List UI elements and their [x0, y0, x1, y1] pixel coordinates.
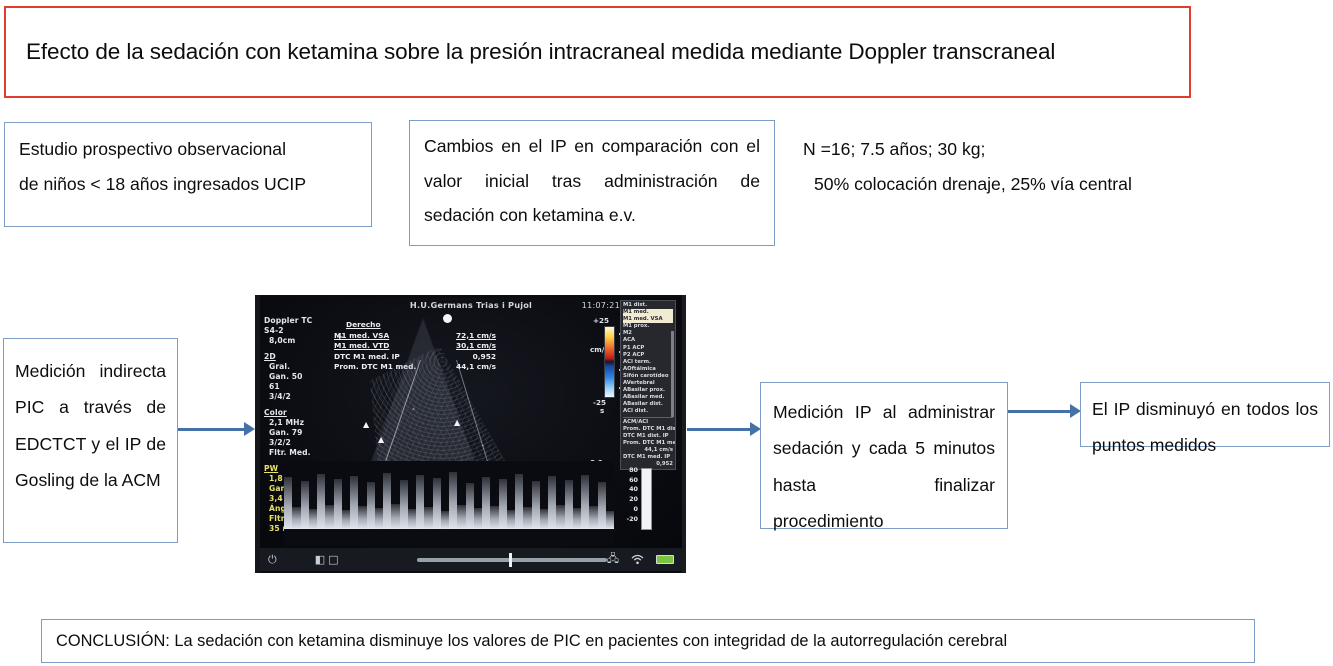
group-line: 3/2/2: [264, 438, 316, 448]
caliper-marker-icon: ▲: [378, 435, 384, 444]
sweep-scale-label: s: [600, 406, 604, 415]
slider-knob[interactable]: [509, 553, 512, 567]
protocol-box: Medición IP al administrar sedación y ca…: [760, 382, 1008, 529]
scale-tick: 60: [616, 476, 638, 486]
power-icon[interactable]: ⏻: [268, 553, 277, 567]
param-group-color: Color 2,1 MHz Gan. 79 3/2/2 Fltr. Med.: [264, 408, 316, 458]
demographics-line-1: N =16; 7.5 años; 30 kg;: [803, 132, 1223, 167]
caliper-marker-icon: ▲: [454, 418, 460, 427]
menu-result-row: DTC M1 med. IP: [623, 454, 673, 461]
page-title: Efecto de la sedación con ketamina sobre…: [4, 6, 1191, 98]
menu-item[interactable]: ABasilar prox.: [623, 387, 673, 394]
menu-result-row: DTC M1 dist. IP: [623, 433, 673, 440]
study-design-box: Estudio prospectivo observacional de niñ…: [4, 122, 372, 227]
menu-item[interactable]: AOftálmica: [623, 366, 673, 373]
menu-item[interactable]: ACA: [623, 337, 673, 344]
arrow-shaft: [178, 428, 244, 431]
arrow-shaft: [687, 428, 750, 431]
menu-item[interactable]: ACI term.: [623, 359, 673, 366]
menu-item[interactable]: ABasilar med.: [623, 394, 673, 401]
outcome-definition-text: Cambios en el IP en comparación con el v…: [410, 121, 774, 241]
group-line: 3/4/2: [264, 392, 316, 402]
network-icon[interactable]: 🖧: [607, 550, 619, 569]
menu-item-selected[interactable]: M1 med.: [623, 309, 673, 316]
mode-label: Doppler TC: [264, 316, 316, 326]
slide-canvas: Efecto de la sedación con ketamina sobre…: [0, 0, 1333, 666]
spectral-velocity-scale: 80 60 40 20 0 -20: [616, 466, 638, 524]
spectral-scale-bar: [641, 468, 652, 530]
spectral-doppler-trace: [284, 461, 614, 546]
outcome-definition-box: Cambios en el IP en comparación con el v…: [409, 120, 775, 246]
menu-result-row: Prom. DTC M1 dist.: [623, 426, 673, 433]
scale-tick: 40: [616, 485, 638, 495]
menu-item-highlighted[interactable]: M1 med. VSA: [623, 316, 673, 323]
menu-item[interactable]: AVertebral: [623, 380, 673, 387]
group-line: 61: [264, 382, 316, 392]
group-line: Gan. 50: [264, 372, 316, 382]
arrow-head: [244, 422, 255, 436]
orientation-marker-icon: [443, 314, 452, 323]
demographics-block: N =16; 7.5 años; 30 kg; 50% colocación d…: [803, 132, 1223, 228]
hospital-name: H.U.Germans Trias i Pujol: [410, 300, 532, 310]
colorbar-max-label: +25: [593, 316, 609, 325]
menu-item[interactable]: ACI dist.: [623, 408, 673, 415]
square-icon[interactable]: □: [328, 553, 338, 566]
ultrasound-screenshot: H.U.Germans Trias i Pujol 11:07:21 Doppl…: [255, 295, 686, 573]
measurement-method-text: Medición indirecta PIC a través de EDCTC…: [4, 339, 177, 509]
arrow-photo-to-protocol: [687, 422, 761, 436]
spectral-waveform: [284, 471, 614, 529]
menu-item[interactable]: M2: [623, 330, 673, 337]
menu-result-row: ACM/ACI: [623, 419, 673, 426]
depth-label: 8,0cm: [264, 336, 316, 346]
result-text: El IP disminuyó en todos los puntos medi…: [1081, 383, 1329, 472]
taskbar-slider[interactable]: [417, 558, 607, 562]
ultrasound-taskbar: ⏻ ◧ □ 🖧: [260, 548, 682, 571]
menu-item[interactable]: P2 ACP: [623, 352, 673, 359]
group-line: Gral.: [264, 362, 316, 372]
scale-tick: 0: [616, 505, 638, 515]
caliper-plus-icon: +: [336, 332, 344, 345]
ultrasound-display: H.U.Germans Trias i Pujol 11:07:21 Doppl…: [260, 298, 682, 548]
caliper-marker-icon: ▲: [363, 420, 369, 429]
colorbar-unit-label: cm/s: [590, 346, 597, 354]
conclusion-box: CONCLUSIÓN: La sedación con ketamina dis…: [41, 619, 1255, 663]
shapes-icon[interactable]: ◧: [315, 553, 325, 566]
menu-divider: [623, 417, 673, 418]
arrow-measure-to-photo: [178, 422, 255, 436]
group-header: 2D: [264, 352, 316, 362]
wifi-icon[interactable]: [631, 554, 644, 565]
arrow-protocol-to-result: [1008, 404, 1081, 418]
group-line: Gan. 79: [264, 428, 316, 438]
study-design-content: Estudio prospectivo observacional de niñ…: [5, 123, 371, 210]
group-line: 2,1 MHz: [264, 418, 316, 428]
menu-item[interactable]: Sifón carotídeo: [623, 373, 673, 380]
protocol-text: Medición IP al administrar sedación y ca…: [761, 383, 1007, 551]
menu-result-value: 44,1 cm/s: [623, 447, 673, 454]
group-line: Fltr. Med.: [264, 448, 316, 458]
taskbar-status-icons: 🖧: [607, 550, 674, 569]
menu-item[interactable]: M1 dist.: [623, 302, 673, 309]
ultrasound-header: H.U.Germans Trias i Pujol 11:07:21: [260, 300, 682, 310]
menu-scrollbar[interactable]: [671, 331, 674, 417]
page-title-text: Efecto de la sedación con ketamina sobre…: [6, 39, 1055, 65]
group-header: Color: [264, 408, 316, 418]
menu-item[interactable]: M1 prox.: [623, 323, 673, 330]
probe-group: Doppler TC S4-2 8,0cm: [264, 316, 316, 346]
vessel-selection-menu[interactable]: M1 dist. M1 med. M1 med. VSA M1 prox. M2…: [620, 300, 676, 470]
demographics-line-2: 50% colocación drenaje, 25% vía central: [803, 167, 1223, 202]
arrow-shaft: [1008, 410, 1070, 413]
menu-item[interactable]: ABasilar dist.: [623, 401, 673, 408]
battery-icon[interactable]: [656, 555, 674, 564]
probe-label: S4-2: [264, 326, 316, 336]
scale-tick: -20: [616, 515, 638, 525]
colorbar-gradient: [604, 326, 615, 398]
study-design-line-1: Estudio prospectivo observacional: [19, 132, 357, 167]
measurement-method-box: Medición indirecta PIC a través de EDCTC…: [3, 338, 178, 543]
menu-result-row: Prom. DTC M1 me.: [623, 440, 673, 447]
conclusion-text: CONCLUSIÓN: La sedación con ketamina dis…: [42, 620, 1254, 662]
param-group-2d: 2D Gral. Gan. 50 61 3/4/2: [264, 352, 316, 402]
scale-tick: 80: [616, 466, 638, 476]
scale-tick: 20: [616, 495, 638, 505]
result-box: El IP disminuyó en todos los puntos medi…: [1080, 382, 1330, 447]
clock-readout: 11:07:21: [582, 300, 620, 310]
monitor-bezel-right: [682, 295, 686, 573]
menu-item[interactable]: P1 ACP: [623, 345, 673, 352]
study-design-line-2: de niños < 18 años ingresados UCIP: [19, 167, 357, 202]
